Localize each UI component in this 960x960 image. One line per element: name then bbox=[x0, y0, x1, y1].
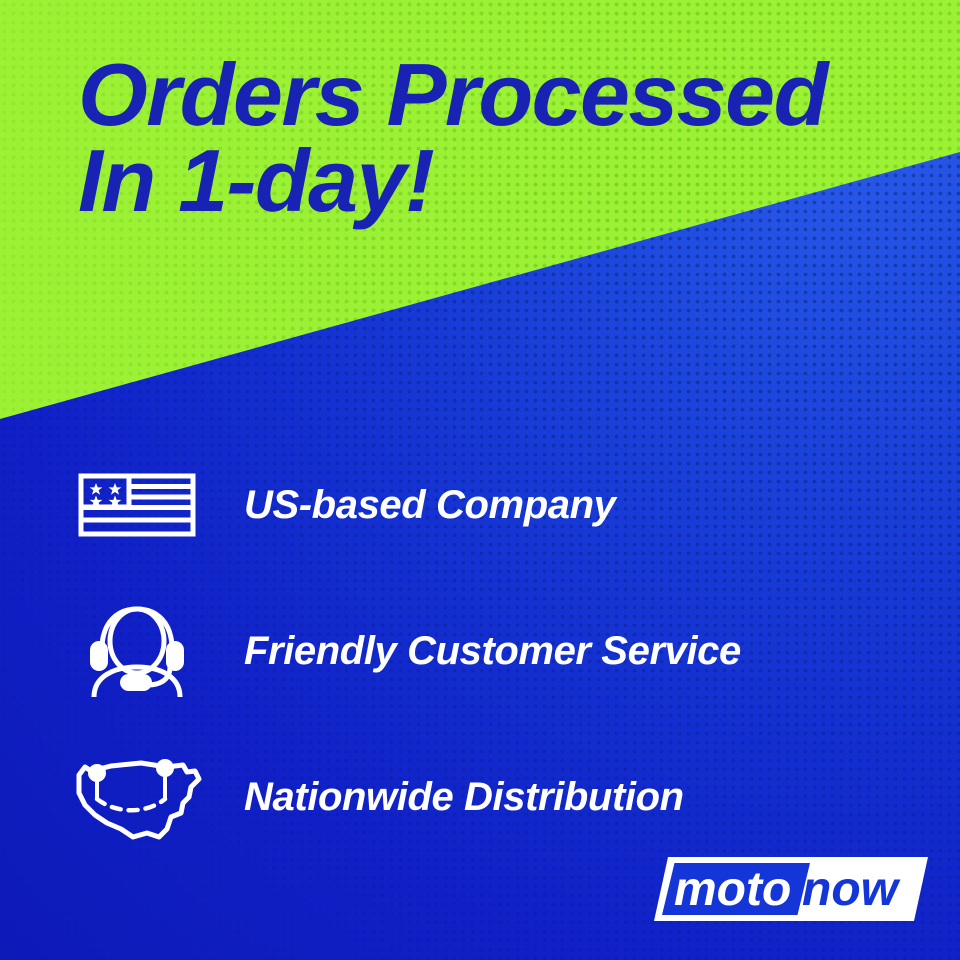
feature-item-customer-service: Friendly Customer Service bbox=[0, 578, 960, 724]
logo-text-moto: moto bbox=[674, 863, 791, 916]
us-map-pins-icon bbox=[62, 747, 212, 847]
feature-label: US-based Company bbox=[244, 483, 615, 528]
headline: Orders Processed In 1-day! bbox=[78, 52, 955, 224]
logo-text-now: now bbox=[802, 863, 901, 916]
promo-banner: Orders Processed In 1-day! US-based C bbox=[0, 0, 960, 960]
feature-list: US-based Company Friendly Customer Servi… bbox=[0, 432, 960, 870]
headset-support-icon bbox=[62, 601, 212, 701]
us-flag-icon bbox=[62, 455, 212, 555]
feature-item-nationwide: Nationwide Distribution bbox=[0, 724, 960, 870]
motonow-logo: moto now bbox=[638, 853, 928, 925]
feature-label: Friendly Customer Service bbox=[244, 629, 741, 674]
feature-label: Nationwide Distribution bbox=[244, 775, 684, 820]
feature-item-us-based: US-based Company bbox=[0, 432, 960, 578]
